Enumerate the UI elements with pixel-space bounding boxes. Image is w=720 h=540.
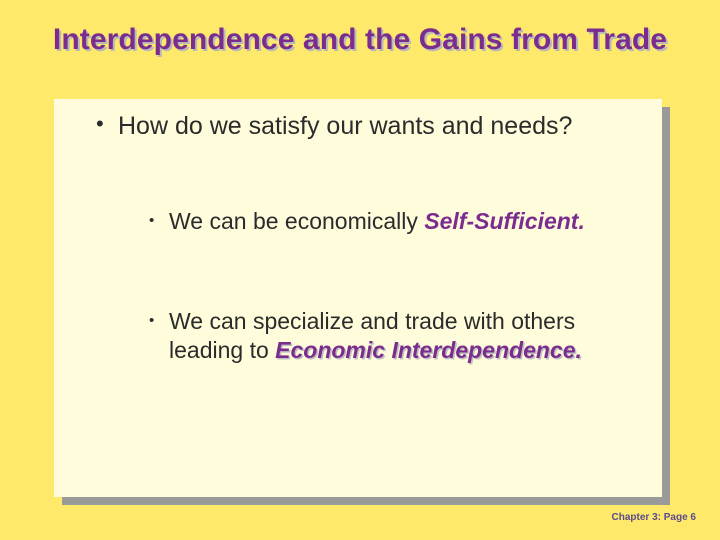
slide: Interdependence and the Gains from Trade… (0, 0, 720, 540)
slide-title: Interdependence and the Gains from Trade (36, 22, 684, 57)
bullet-level2-2: • We can specialize and trade with other… (149, 307, 649, 365)
bullet-marker-icon: • (149, 307, 169, 336)
bullet-level2-1-emphasis: Self-Sufficient. (424, 208, 585, 234)
bullet-marker-icon: • (74, 111, 118, 137)
bullet-level2-1-plain: We can be economically (169, 208, 424, 234)
bullet-level2-2-emphasis: Economic Interdependence. (275, 337, 582, 363)
bullet-level2-2-text: We can specialize and trade with others … (169, 307, 649, 365)
bullet-level2-1: • We can be economically Self-Sufficient… (149, 207, 649, 236)
bullet-level1-text: How do we satisfy our wants and needs? (118, 111, 644, 141)
bullet-level1: • How do we satisfy our wants and needs? (74, 111, 644, 141)
bullet-level2-1-text: We can be economically Self-Sufficient. (169, 207, 649, 236)
slide-footer: Chapter 3: Page 6 (612, 512, 696, 523)
bullet-marker-icon: • (149, 207, 169, 236)
content-box: • How do we satisfy our wants and needs?… (54, 99, 662, 497)
